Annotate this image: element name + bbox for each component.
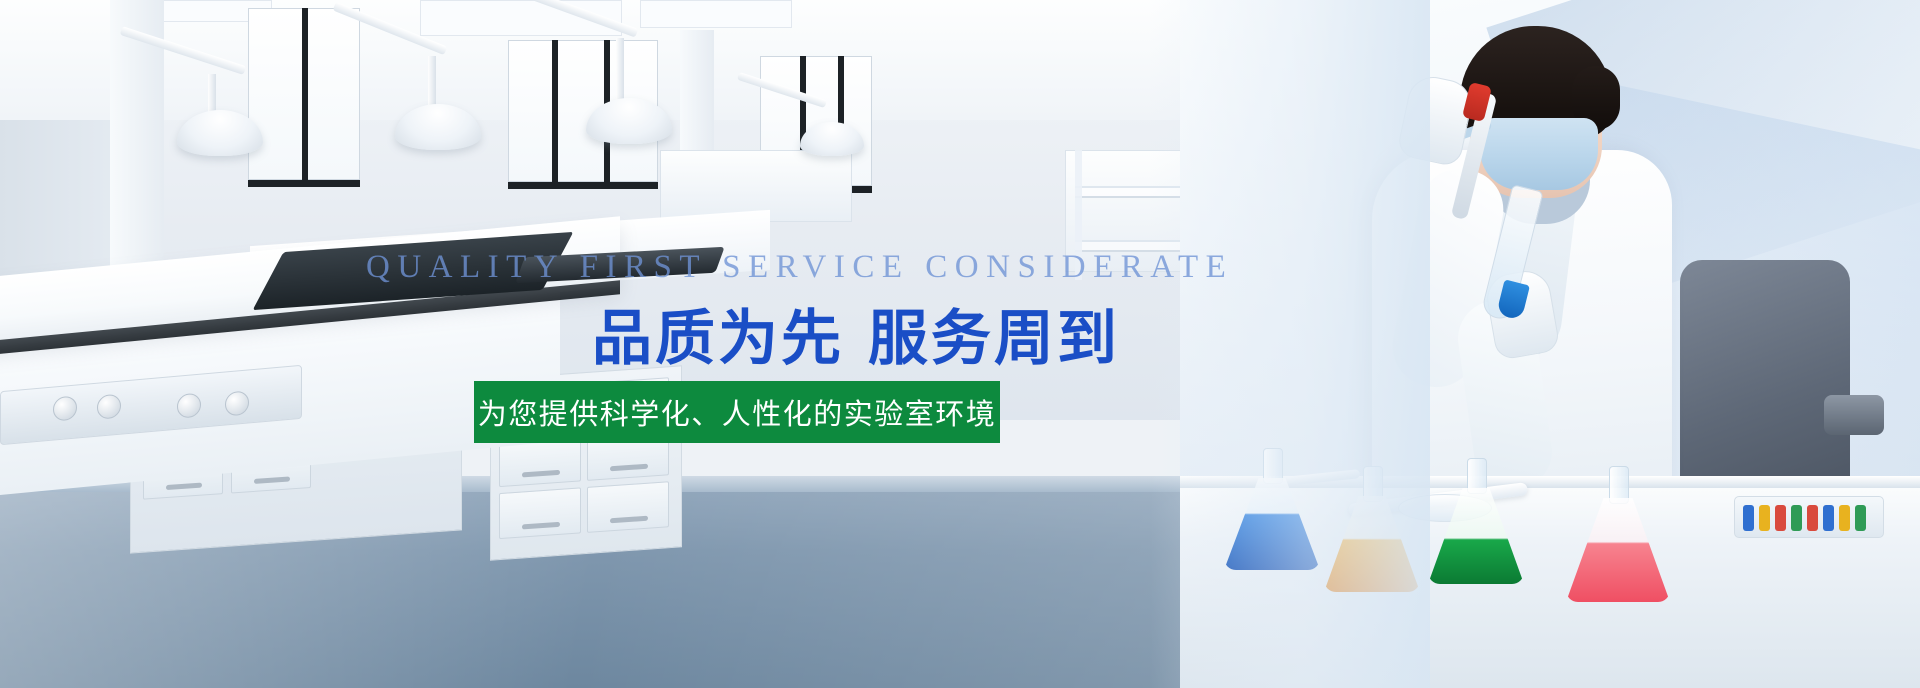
banner-headline: 品质为先 服务周到	[592, 290, 1120, 377]
english-tagline: QUALITY FIRST SERVICE CONSIDERATE	[366, 249, 1233, 286]
subtitle-green-bar: 为您提供科学化、人性化的实验室环境	[474, 381, 1000, 443]
promotional-banner: QUALITY FIRST SERVICE CONSIDERATE 品质为先 服…	[0, 0, 1920, 688]
banner-copy: QUALITY FIRST SERVICE CONSIDERATE 品质为先 服…	[0, 0, 1920, 688]
banner-subtitle: 为您提供科学化、人性化的实验室环境	[478, 391, 997, 433]
